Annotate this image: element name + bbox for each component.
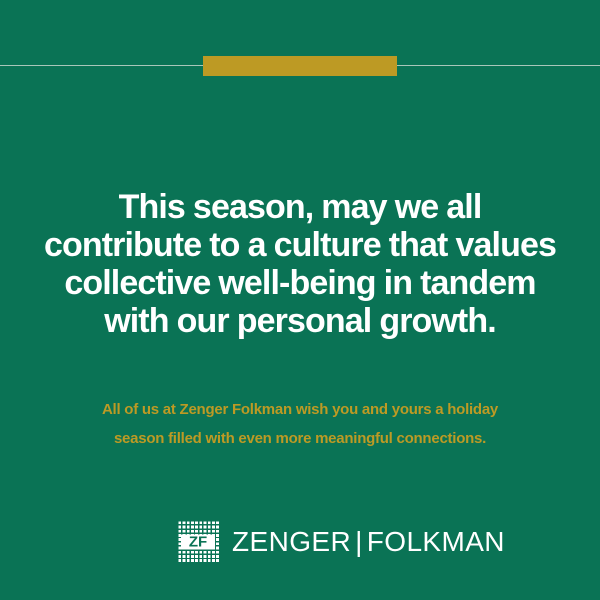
- holiday-message-card: This season, may we all contribute to a …: [0, 0, 600, 600]
- gold-accent-bar: [203, 56, 397, 76]
- headline-line-3: collective well-being in tandem: [0, 264, 600, 302]
- zenger-folkman-dot-grid-mark-icon: ZF: [177, 520, 219, 563]
- subtitle: All of us at Zenger Folkman wish you and…: [0, 395, 600, 453]
- subtitle-line-2: season filled with even more meaningful …: [0, 424, 600, 453]
- logo-word-zenger: ZENGER: [232, 526, 351, 557]
- headline-line-2: contribute to a culture that values: [0, 226, 600, 264]
- headline: This season, may we all contribute to a …: [0, 188, 600, 340]
- headline-line-4: with our personal growth.: [0, 302, 600, 340]
- logo-word-divider: |: [351, 526, 367, 557]
- logo-word-folkman: FOLKMAN: [367, 526, 505, 557]
- logo: ZF ZENGER|FOLKMAN: [177, 520, 505, 563]
- mark-initials: ZF: [177, 534, 219, 549]
- subtitle-line-1: All of us at Zenger Folkman wish you and…: [0, 395, 600, 424]
- logo-wordmark: ZENGER|FOLKMAN: [232, 526, 505, 558]
- headline-line-1: This season, may we all: [0, 188, 600, 226]
